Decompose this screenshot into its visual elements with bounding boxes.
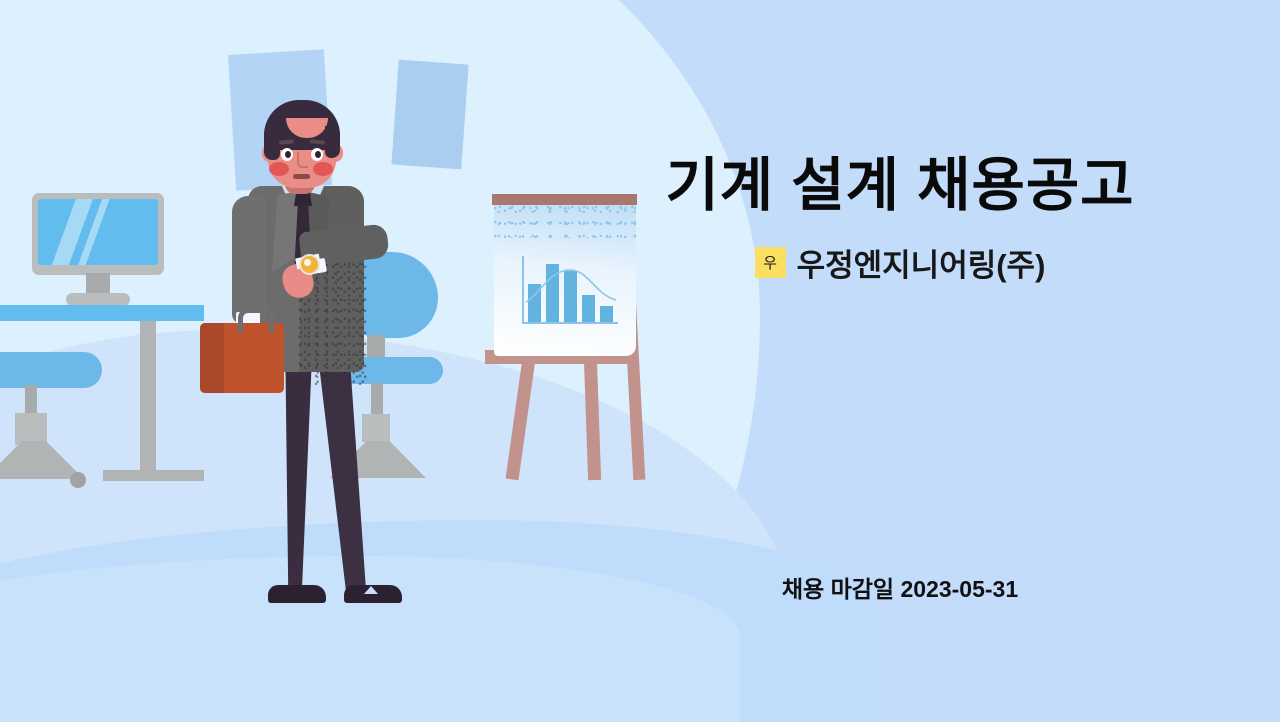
deadline-text: 채용 마감일 2023-05-31: [600, 570, 1200, 604]
company-badge: 우: [755, 247, 786, 278]
pupil-left: [285, 151, 291, 158]
arm-left: [232, 196, 266, 324]
office-chair-left-hub: [15, 413, 47, 445]
desk-foot: [103, 470, 204, 481]
job-posting-poster: 기계 설계 채용공고 우 우정엔지니어링(주) 채용 마감일 2023-05-3…: [0, 0, 1280, 722]
company-row: 우 우정엔지니어링(주): [600, 240, 1200, 285]
desk-leg: [140, 321, 156, 478]
company-name: 우정엔지니어링(주): [797, 240, 1046, 285]
shoe-right: [344, 585, 402, 603]
shoe-left: [268, 585, 326, 603]
blush-right: [313, 162, 333, 176]
pupil-right: [315, 151, 321, 158]
briefcase-side-panel: [200, 323, 224, 393]
briefcase-handle: [238, 308, 274, 333]
chart-x-axis: [522, 322, 618, 324]
desk-top: [0, 305, 204, 321]
wristwatch-dial: [304, 259, 311, 266]
office-chair-hub: [362, 414, 390, 442]
monitor-screen: [38, 199, 158, 265]
hair-side-right: [325, 126, 340, 158]
nose: [297, 152, 308, 168]
wall-poster-2: [391, 60, 468, 170]
page-title: 기계 설계 채용공고: [600, 138, 1200, 222]
hair-side-left: [264, 126, 280, 160]
blush-left: [269, 162, 289, 176]
office-chair-left-seat: [0, 352, 102, 388]
office-chair-left-wheel: [70, 472, 86, 488]
mouth: [293, 174, 310, 179]
